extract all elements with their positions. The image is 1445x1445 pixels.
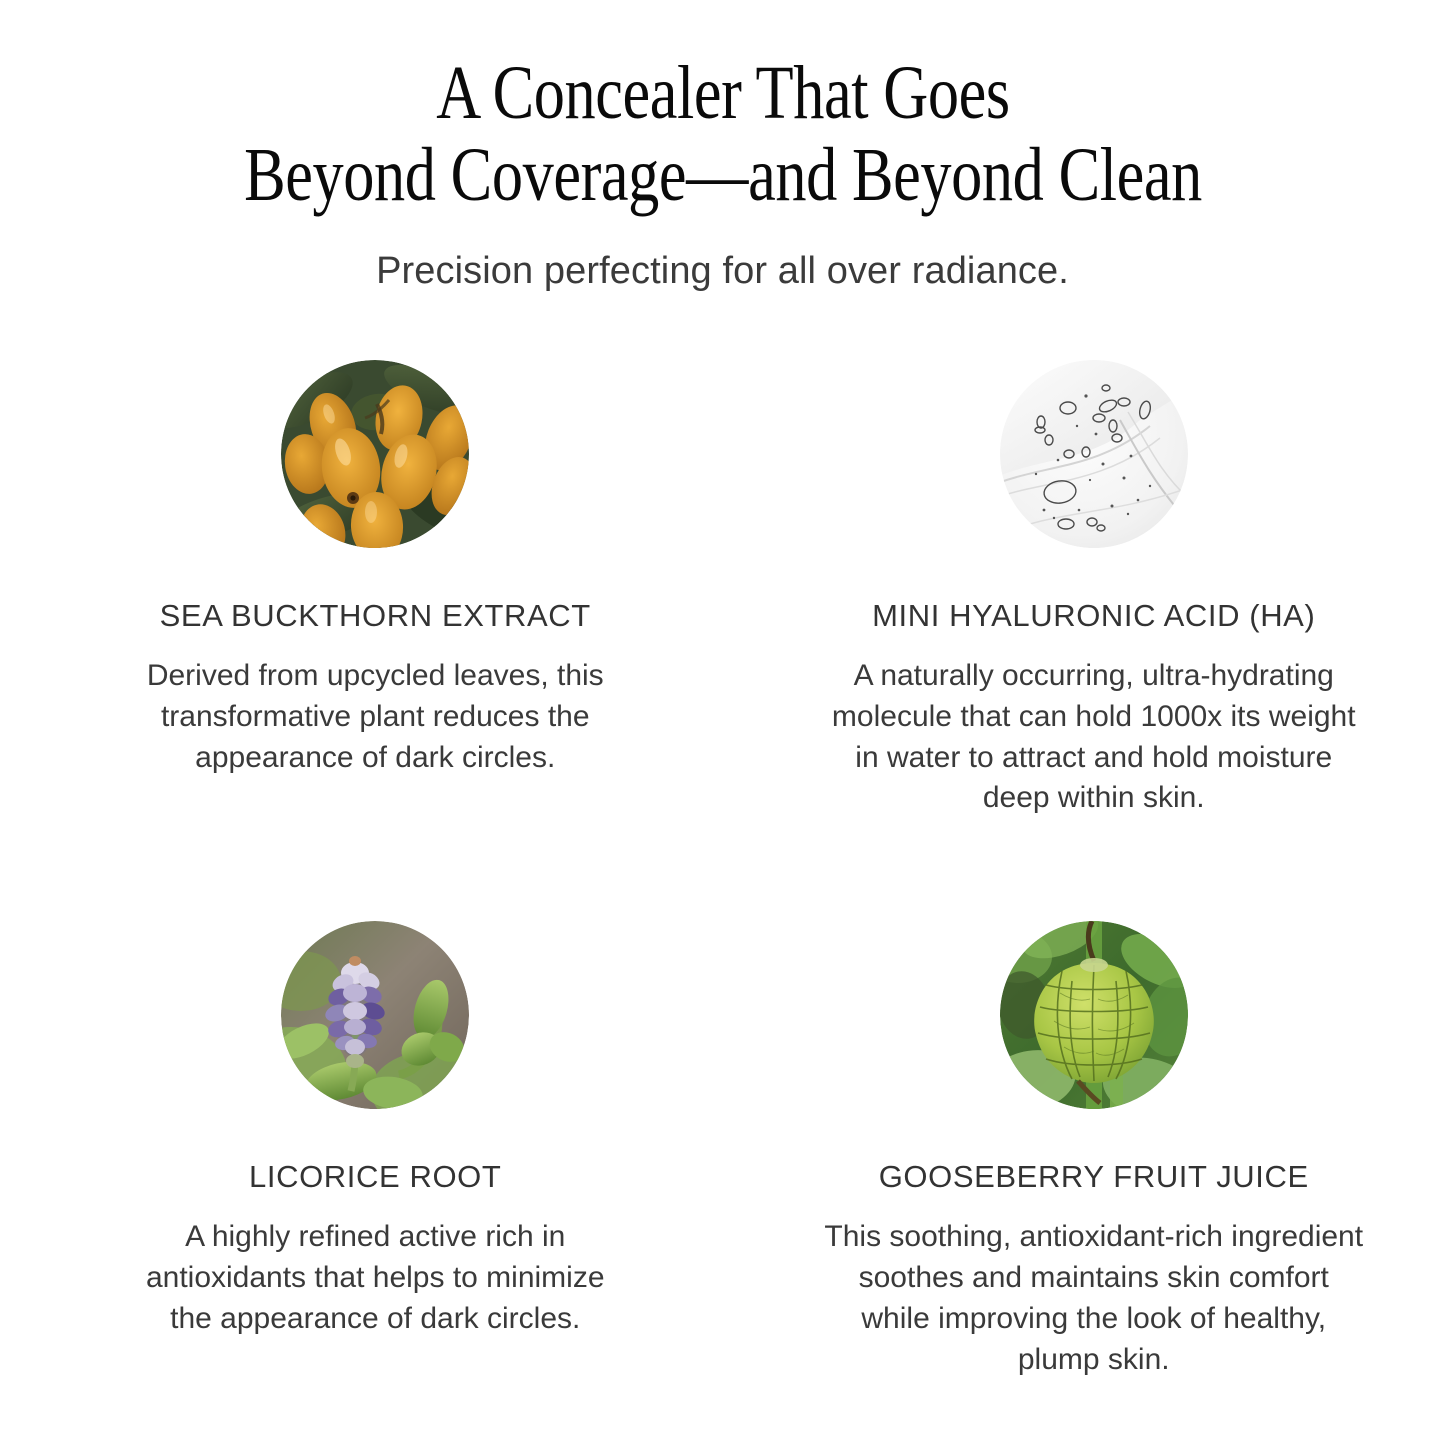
ingredient-card-sea-buckthorn-extract: SEA BUCKTHORN EXTRACT Derived from upcyc…: [0, 360, 723, 819]
ingredient-title: MINI HYALURONIC ACID (HA): [872, 598, 1315, 634]
licorice-flower-photo: [281, 921, 469, 1109]
ingredient-title: LICORICE ROOT: [249, 1159, 501, 1195]
ingredient-description: Derived from upcycled leaves, this trans…: [140, 656, 610, 778]
ingredient-description: A highly refined active rich in antioxid…: [140, 1217, 610, 1339]
header: A Concealer That Goes Beyond Coverage—an…: [0, 0, 1445, 293]
gooseberry-husk-photo: [1000, 921, 1188, 1109]
ingredient-card-licorice-root: LICORICE ROOT A highly refined active ri…: [0, 921, 723, 1380]
sea-buckthorn-berries-photo: [281, 360, 469, 548]
page-title: A Concealer That Goes Beyond Coverage—an…: [214, 52, 1231, 216]
hyaluronic-acid-gel-photo: [1000, 360, 1188, 548]
ingredient-description: This soothing, antioxidant-rich ingredie…: [824, 1217, 1364, 1380]
ingredient-card-mini-hyaluronic-acid: MINI HYALURONIC ACID (HA) A naturally oc…: [723, 360, 1445, 819]
ingredient-description: A naturally occurring, ultra-hydrating m…: [824, 656, 1364, 819]
ingredient-title: GOOSEBERRY FRUIT JUICE: [879, 1159, 1309, 1195]
ingredient-benefits-infographic: A Concealer That Goes Beyond Coverage—an…: [0, 0, 1445, 1445]
ingredient-title: SEA BUCKTHORN EXTRACT: [160, 598, 591, 634]
page-subtitle: Precision perfecting for all over radian…: [0, 250, 1445, 293]
ingredient-card-gooseberry-fruit-juice: GOOSEBERRY FRUIT JUICE This soothing, an…: [723, 921, 1445, 1380]
ingredient-grid: SEA BUCKTHORN EXTRACT Derived from upcyc…: [0, 360, 1445, 1380]
headline-line-1: A Concealer That Goes: [214, 52, 1231, 134]
headline-line-2: Beyond Coverage—and Beyond Clean: [214, 134, 1231, 216]
